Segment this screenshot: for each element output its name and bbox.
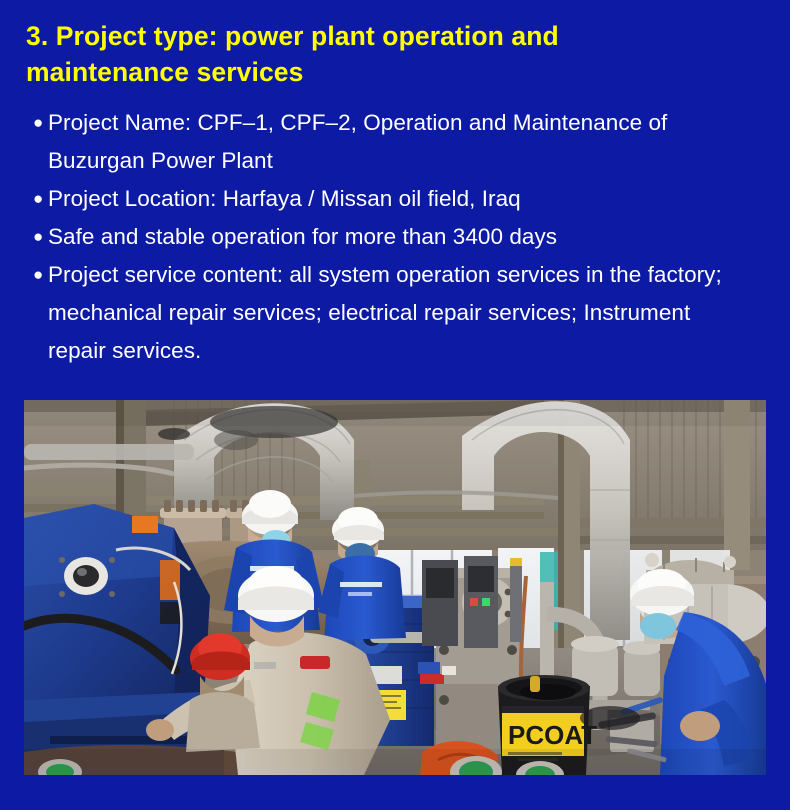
list-item: ● Project service content: all system op…	[30, 256, 748, 370]
bullet-dot-icon: ●	[30, 104, 48, 142]
slide-title: 3. Project type: power plant operation a…	[26, 18, 742, 90]
list-item-label: Project Name: CPF–1, CPF–2, Operation an…	[48, 104, 748, 180]
bullet-dot-icon: ●	[30, 180, 48, 218]
photo-illustration: PCOAT	[24, 400, 766, 775]
project-photo: PCOAT	[24, 400, 766, 775]
bullet-list: ● Project Name: CPF–1, CPF–2, Operation …	[30, 104, 748, 370]
list-item-label: Safe and stable operation for more than …	[48, 218, 748, 256]
svg-text:PCOAT: PCOAT	[508, 720, 597, 750]
list-item: ● Project Name: CPF–1, CPF–2, Operation …	[30, 104, 748, 180]
list-item-label: Project service content: all system oper…	[48, 256, 748, 370]
list-item: ● Safe and stable operation for more tha…	[30, 218, 748, 256]
list-item: ● Project Location: Harfaya / Missan oil…	[30, 180, 748, 218]
title-line-2: maintenance services	[26, 54, 742, 90]
bullet-dot-icon: ●	[30, 256, 48, 294]
list-item-label: Project Location: Harfaya / Missan oil f…	[48, 180, 748, 218]
title-line-1: 3. Project type: power plant operation a…	[26, 18, 742, 54]
bullet-dot-icon: ●	[30, 218, 48, 256]
slide-root: 3. Project type: power plant operation a…	[0, 0, 790, 810]
